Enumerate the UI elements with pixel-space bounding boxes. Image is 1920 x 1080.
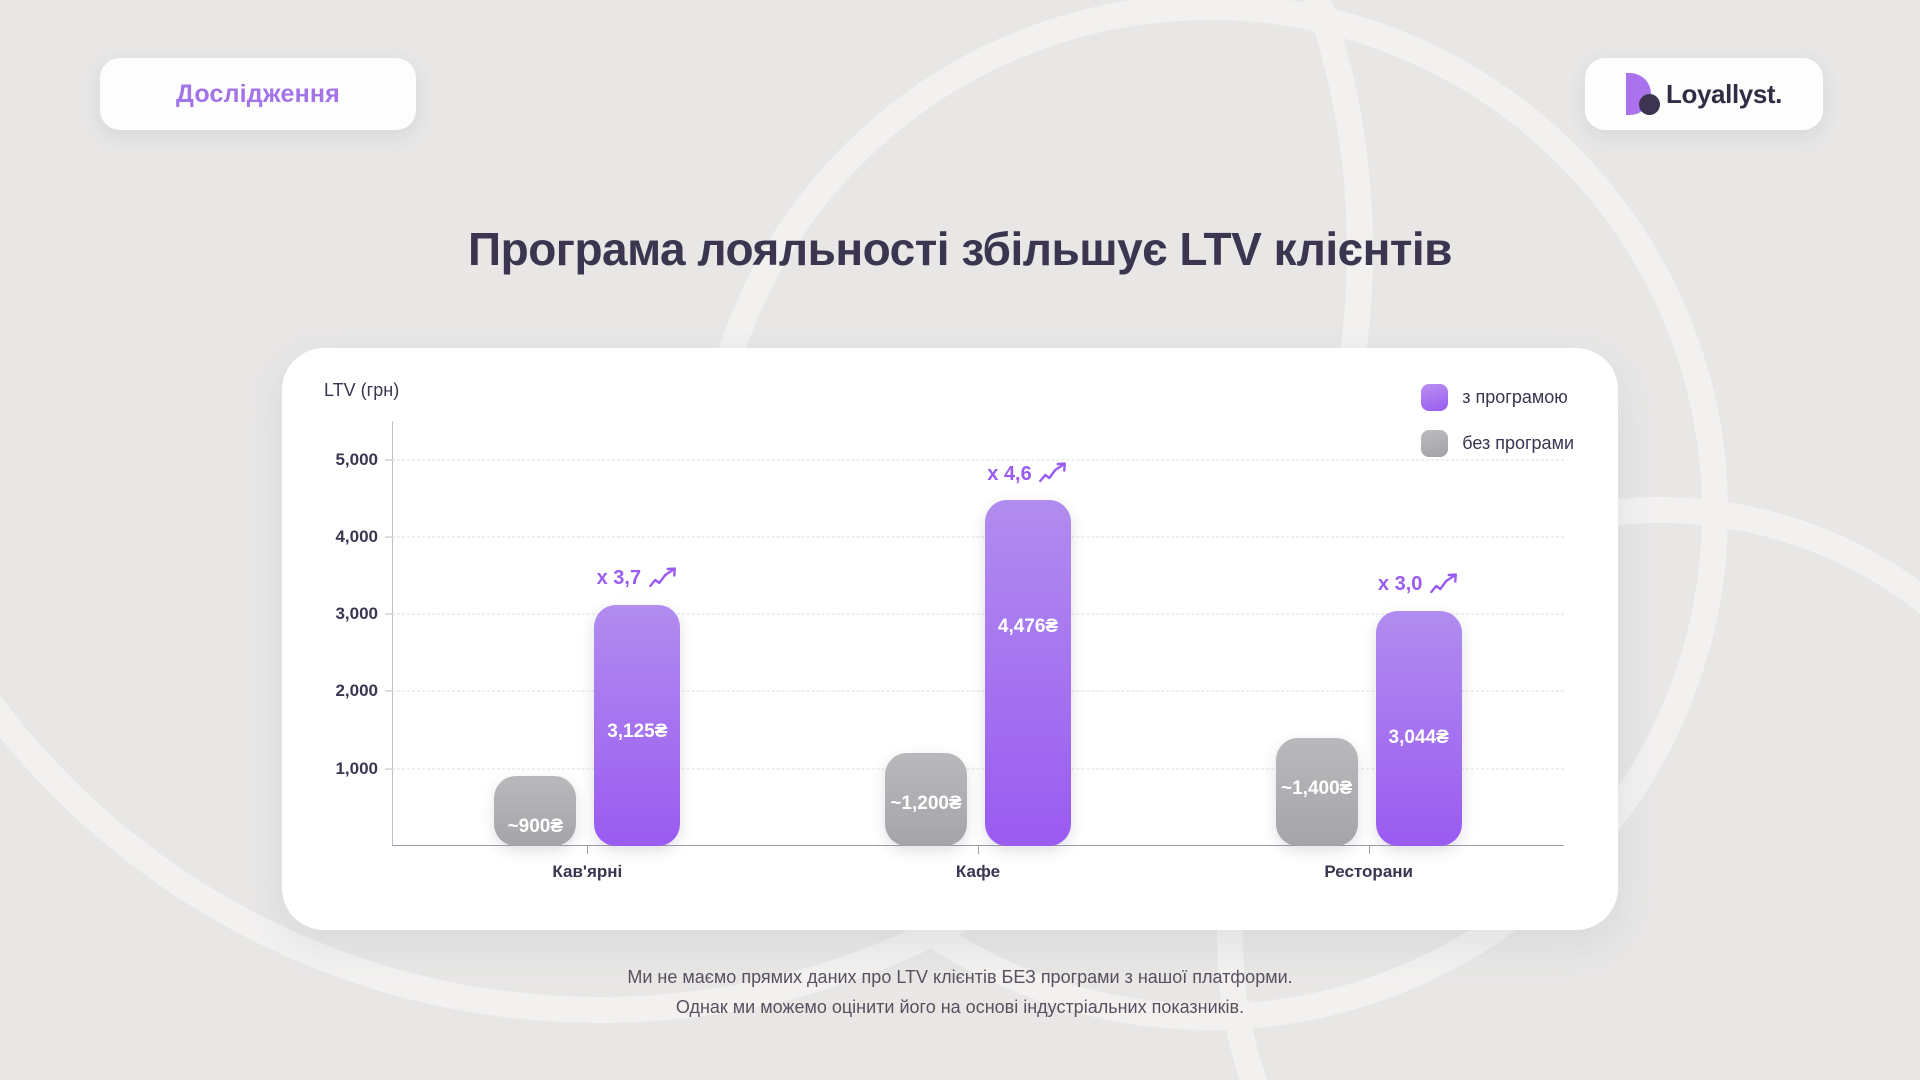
category-label: Кафе <box>956 862 1000 882</box>
y-axis-tick <box>385 768 392 769</box>
bar-pair: ~1,400₴ 3,044₴ x 3,0 <box>1254 421 1484 846</box>
trending-up-icon <box>648 567 678 591</box>
bar-pair: ~1,200₴ 4,476₴ x 4,6 <box>863 421 1093 846</box>
page-title: Програма лояльності збільшує LTV клієнті… <box>0 222 1920 276</box>
y-axis-label: 3,000 <box>335 604 378 624</box>
bar-value-with-program: 3,044₴ <box>1389 727 1449 749</box>
multiplier-label: x 3,0 <box>1378 573 1422 596</box>
y-axis-label: 4,000 <box>335 527 378 547</box>
loyallyst-leaf-icon <box>1626 73 1656 115</box>
bar-group: ~1,400₴ 3,044₴ x 3,0 Ресторани <box>1173 421 1564 846</box>
brand-wordmark: Loyallyst. <box>1666 79 1782 110</box>
multiplier-annotation: x 4,6 <box>987 462 1068 486</box>
footnote: Ми не маємо прямих даних про LTV клієнті… <box>0 962 1920 1022</box>
x-axis-tick <box>587 846 588 854</box>
footnote-line-1: Ми не маємо прямих даних про LTV клієнті… <box>0 962 1920 992</box>
bar-pair: ~900₴ 3,125₴ x 3,7 <box>472 421 702 846</box>
bar-group: ~1,200₴ 4,476₴ x 4,6 Кафе <box>783 421 1174 846</box>
bar-value-with-program: 4,476₴ <box>998 616 1058 638</box>
plot-area: 1,0002,0003,0004,0005,000 ~900₴ 3,125₴ x… <box>392 421 1564 846</box>
bar-without-program[interactable]: ~1,200₴ <box>885 753 967 846</box>
footnote-line-2: Однак ми можемо оцінити його на основі і… <box>0 992 1920 1022</box>
legend-swatch-purple <box>1421 384 1448 411</box>
y-axis-tick <box>385 459 392 460</box>
trending-up-icon <box>1429 573 1459 597</box>
y-axis-tick <box>385 536 392 537</box>
x-axis-tick <box>1369 846 1370 854</box>
bar-with-program[interactable]: 3,125₴ x 3,7 <box>594 605 680 846</box>
multiplier-label: x 4,6 <box>987 463 1031 486</box>
bar-groups: ~900₴ 3,125₴ x 3,7 Кав'ярні ~1,200₴ 4,47… <box>392 421 1564 846</box>
x-axis-tick <box>978 846 979 854</box>
bar-group: ~900₴ 3,125₴ x 3,7 Кав'ярні <box>392 421 783 846</box>
y-axis-title: LTV (грн) <box>324 380 399 401</box>
y-axis-label: 1,000 <box>335 759 378 779</box>
multiplier-annotation: x 3,0 <box>1378 573 1459 597</box>
y-axis-tick <box>385 614 392 615</box>
trending-up-icon <box>1039 462 1069 486</box>
multiplier-label: x 3,7 <box>597 567 641 590</box>
research-badge-label: Дослідження <box>176 80 340 109</box>
bar-without-program[interactable]: ~1,400₴ <box>1276 738 1358 846</box>
bar-value-without-program: ~1,200₴ <box>890 793 961 815</box>
brand-logo[interactable]: Loyallyst. <box>1585 58 1823 130</box>
y-axis-label: 5,000 <box>335 450 378 470</box>
y-axis-tick <box>385 691 392 692</box>
category-label: Кав'ярні <box>552 862 622 882</box>
legend-label-with-program: з програмою <box>1462 387 1568 408</box>
bar-value-without-program: ~900₴ <box>508 816 563 838</box>
multiplier-annotation: x 3,7 <box>597 567 678 591</box>
category-label: Ресторани <box>1324 862 1413 882</box>
bar-with-program[interactable]: 4,476₴ x 4,6 <box>985 500 1071 846</box>
legend-item-with-program[interactable]: з програмою <box>1421 384 1574 411</box>
bar-without-program[interactable]: ~900₴ <box>494 776 576 846</box>
y-axis-label: 2,000 <box>335 681 378 701</box>
bar-value-without-program: ~1,400₴ <box>1281 778 1352 800</box>
bar-with-program[interactable]: 3,044₴ x 3,0 <box>1376 611 1462 846</box>
chart-card: LTV (грн) з програмою без програми 1,000… <box>282 348 1618 930</box>
research-badge: Дослідження <box>100 58 416 130</box>
bar-value-with-program: 3,125₴ <box>607 721 667 743</box>
